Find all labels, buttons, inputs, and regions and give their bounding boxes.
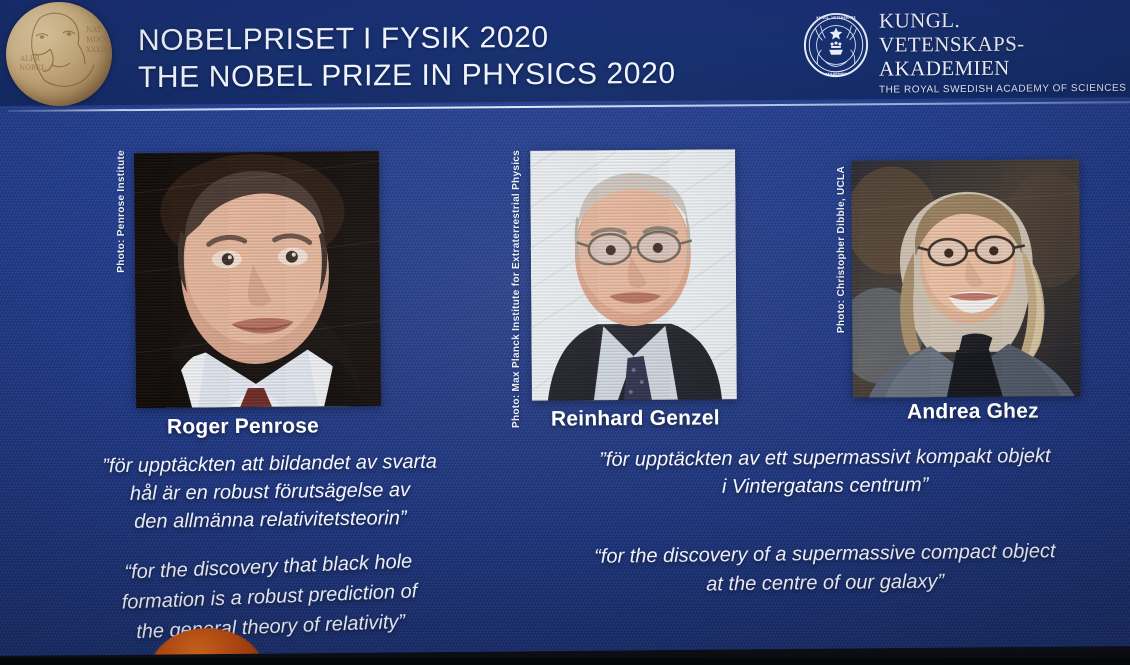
citation-line: i Vintergatans centrum” xyxy=(535,469,1115,502)
academy-name-line-3: AKADEMIEN xyxy=(879,55,1126,81)
photo-credit-penrose: Photo: Penrose Institute xyxy=(116,150,127,273)
title-swedish: NOBELPRISET I FYSIK 2020 xyxy=(138,18,676,59)
academy-subtitle: THE ROYAL SWEDISH ACADEMY OF SCIENCES xyxy=(879,83,1126,96)
svg-text:AKADEMIEN: AKADEMIEN xyxy=(824,72,846,76)
royal-academy-logo: KUNGL. VETENSKAPS AKADEMIEN KUNGL. VETEN… xyxy=(802,5,1126,97)
citation-penrose-english: “for the discovery that black hole forma… xyxy=(40,543,498,650)
header-titles: NOBELPRISET I FYSIK 2020 THE NOBEL PRIZE… xyxy=(138,18,676,96)
portrait-reinhard-genzel xyxy=(530,149,737,400)
photo-credit-ghez: Photo: Christopher Dibble, UCLA xyxy=(836,166,847,333)
laureate-name-penrose: Roger Penrose xyxy=(167,414,319,439)
citation-shared-swedish: ”för upptäckten av ett supermassivt komp… xyxy=(535,441,1115,502)
royal-academy-seal-icon: KUNGL. VETENSKAPS AKADEMIEN xyxy=(802,11,870,80)
portrait-roger-penrose xyxy=(134,151,381,408)
citation-penrose-swedish: ”för upptäckten att bildandet av svarta … xyxy=(39,447,500,537)
academy-name-line-2: VETENSKAPS- xyxy=(879,31,1126,57)
academy-name-line-1: KUNGL. xyxy=(879,7,1126,33)
screen-bottom-edge xyxy=(0,658,1130,665)
portrait-andrea-ghez xyxy=(851,159,1081,398)
svg-text:KUNGL. VETENSKAPS: KUNGL. VETENSKAPS xyxy=(816,16,856,20)
academy-wordmark: KUNGL. VETENSKAPS- AKADEMIEN THE ROYAL S… xyxy=(879,5,1126,96)
nobel-prize-announcement-slide: ALFR NOBEL NAT MDCCC XXXIII NOBELPRISET … xyxy=(0,0,1130,665)
title-english: THE NOBEL PRIZE IN PHYSICS 2020 xyxy=(138,55,676,96)
citation-shared-english: “for the discovery of a supermassive com… xyxy=(535,536,1116,601)
citation-line: ”för upptäckten av ett supermassivt komp… xyxy=(535,441,1115,474)
laureate-name-ghez: Andrea Ghez xyxy=(907,400,1039,425)
photo-credit-genzel: Photo: Max Planck Institute for Extrater… xyxy=(511,150,522,428)
laureate-name-genzel: Reinhard Genzel xyxy=(551,406,720,431)
nobel-medal-icon: ALFR NOBEL NAT MDCCC XXXIII xyxy=(6,2,112,106)
medal-sheen xyxy=(6,2,112,106)
